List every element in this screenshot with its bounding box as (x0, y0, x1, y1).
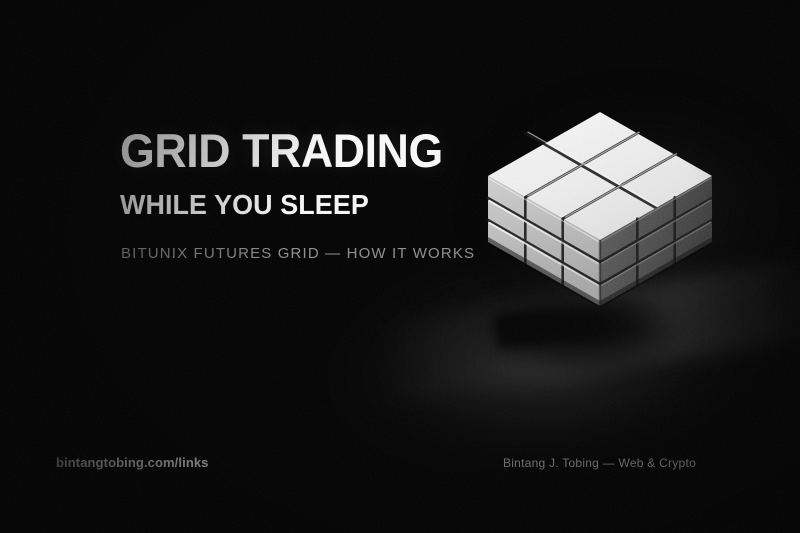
page-eyebrow-label: BITUNIX FUTURES GRID — HOW IT WORKS (121, 245, 500, 263)
footer-credit: Bintang J. Tobing — Web & Crypto (503, 456, 696, 470)
footer-link[interactable]: bintangtobing.com/links (56, 455, 209, 470)
copy-block: GRID TRADING WHILE YOU SLEEP BITUNIX FUT… (120, 126, 500, 263)
page-subtitle: WHILE YOU SLEEP (120, 190, 485, 220)
slide-canvas: GRID TRADING WHILE YOU SLEEP BITUNIX FUT… (0, 0, 800, 533)
cube-graphic (488, 112, 712, 352)
cube-svg (488, 112, 712, 352)
page-title: GRID TRADING (120, 126, 481, 176)
